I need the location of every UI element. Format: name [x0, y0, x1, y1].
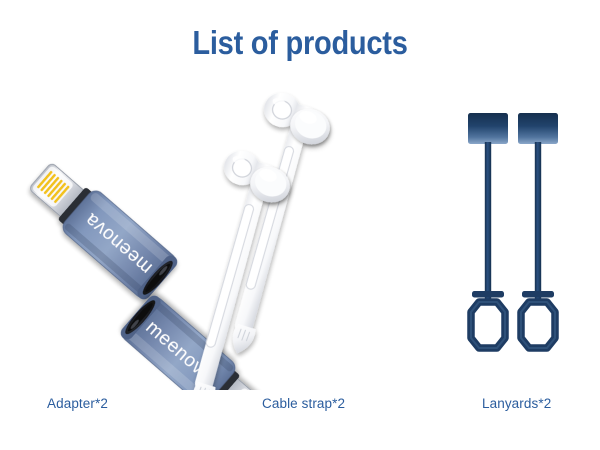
lanyard-block — [468, 113, 508, 144]
lanyard-crossbar — [472, 291, 504, 298]
lanyard-ring-icon — [471, 302, 505, 348]
product-caption-lanyards: Lanyards*2 — [482, 396, 551, 411]
lanyard-stem-2 — [535, 142, 541, 300]
lanyard-unit-2 — [518, 113, 558, 348]
products-illustration-svg: meenova — [0, 80, 600, 390]
product-illustrations: meenova — [0, 80, 600, 390]
product-caption-cable-strap: Cable strap*2 — [262, 396, 345, 411]
lanyard-unit-1 — [468, 113, 508, 348]
lanyard-block-2 — [518, 113, 558, 144]
product-list-page: List of products — [0, 0, 600, 450]
product-caption-adapter: Adapter*2 — [47, 396, 108, 411]
lanyard-stem — [485, 142, 491, 300]
page-title: List of products — [36, 24, 564, 62]
lanyard-ring-icon-2 — [521, 302, 555, 348]
lanyard-crossbar-2 — [522, 291, 554, 298]
cable-strap-unit-1 — [182, 88, 337, 357]
adapter-unit-1: meenova — [22, 155, 180, 302]
